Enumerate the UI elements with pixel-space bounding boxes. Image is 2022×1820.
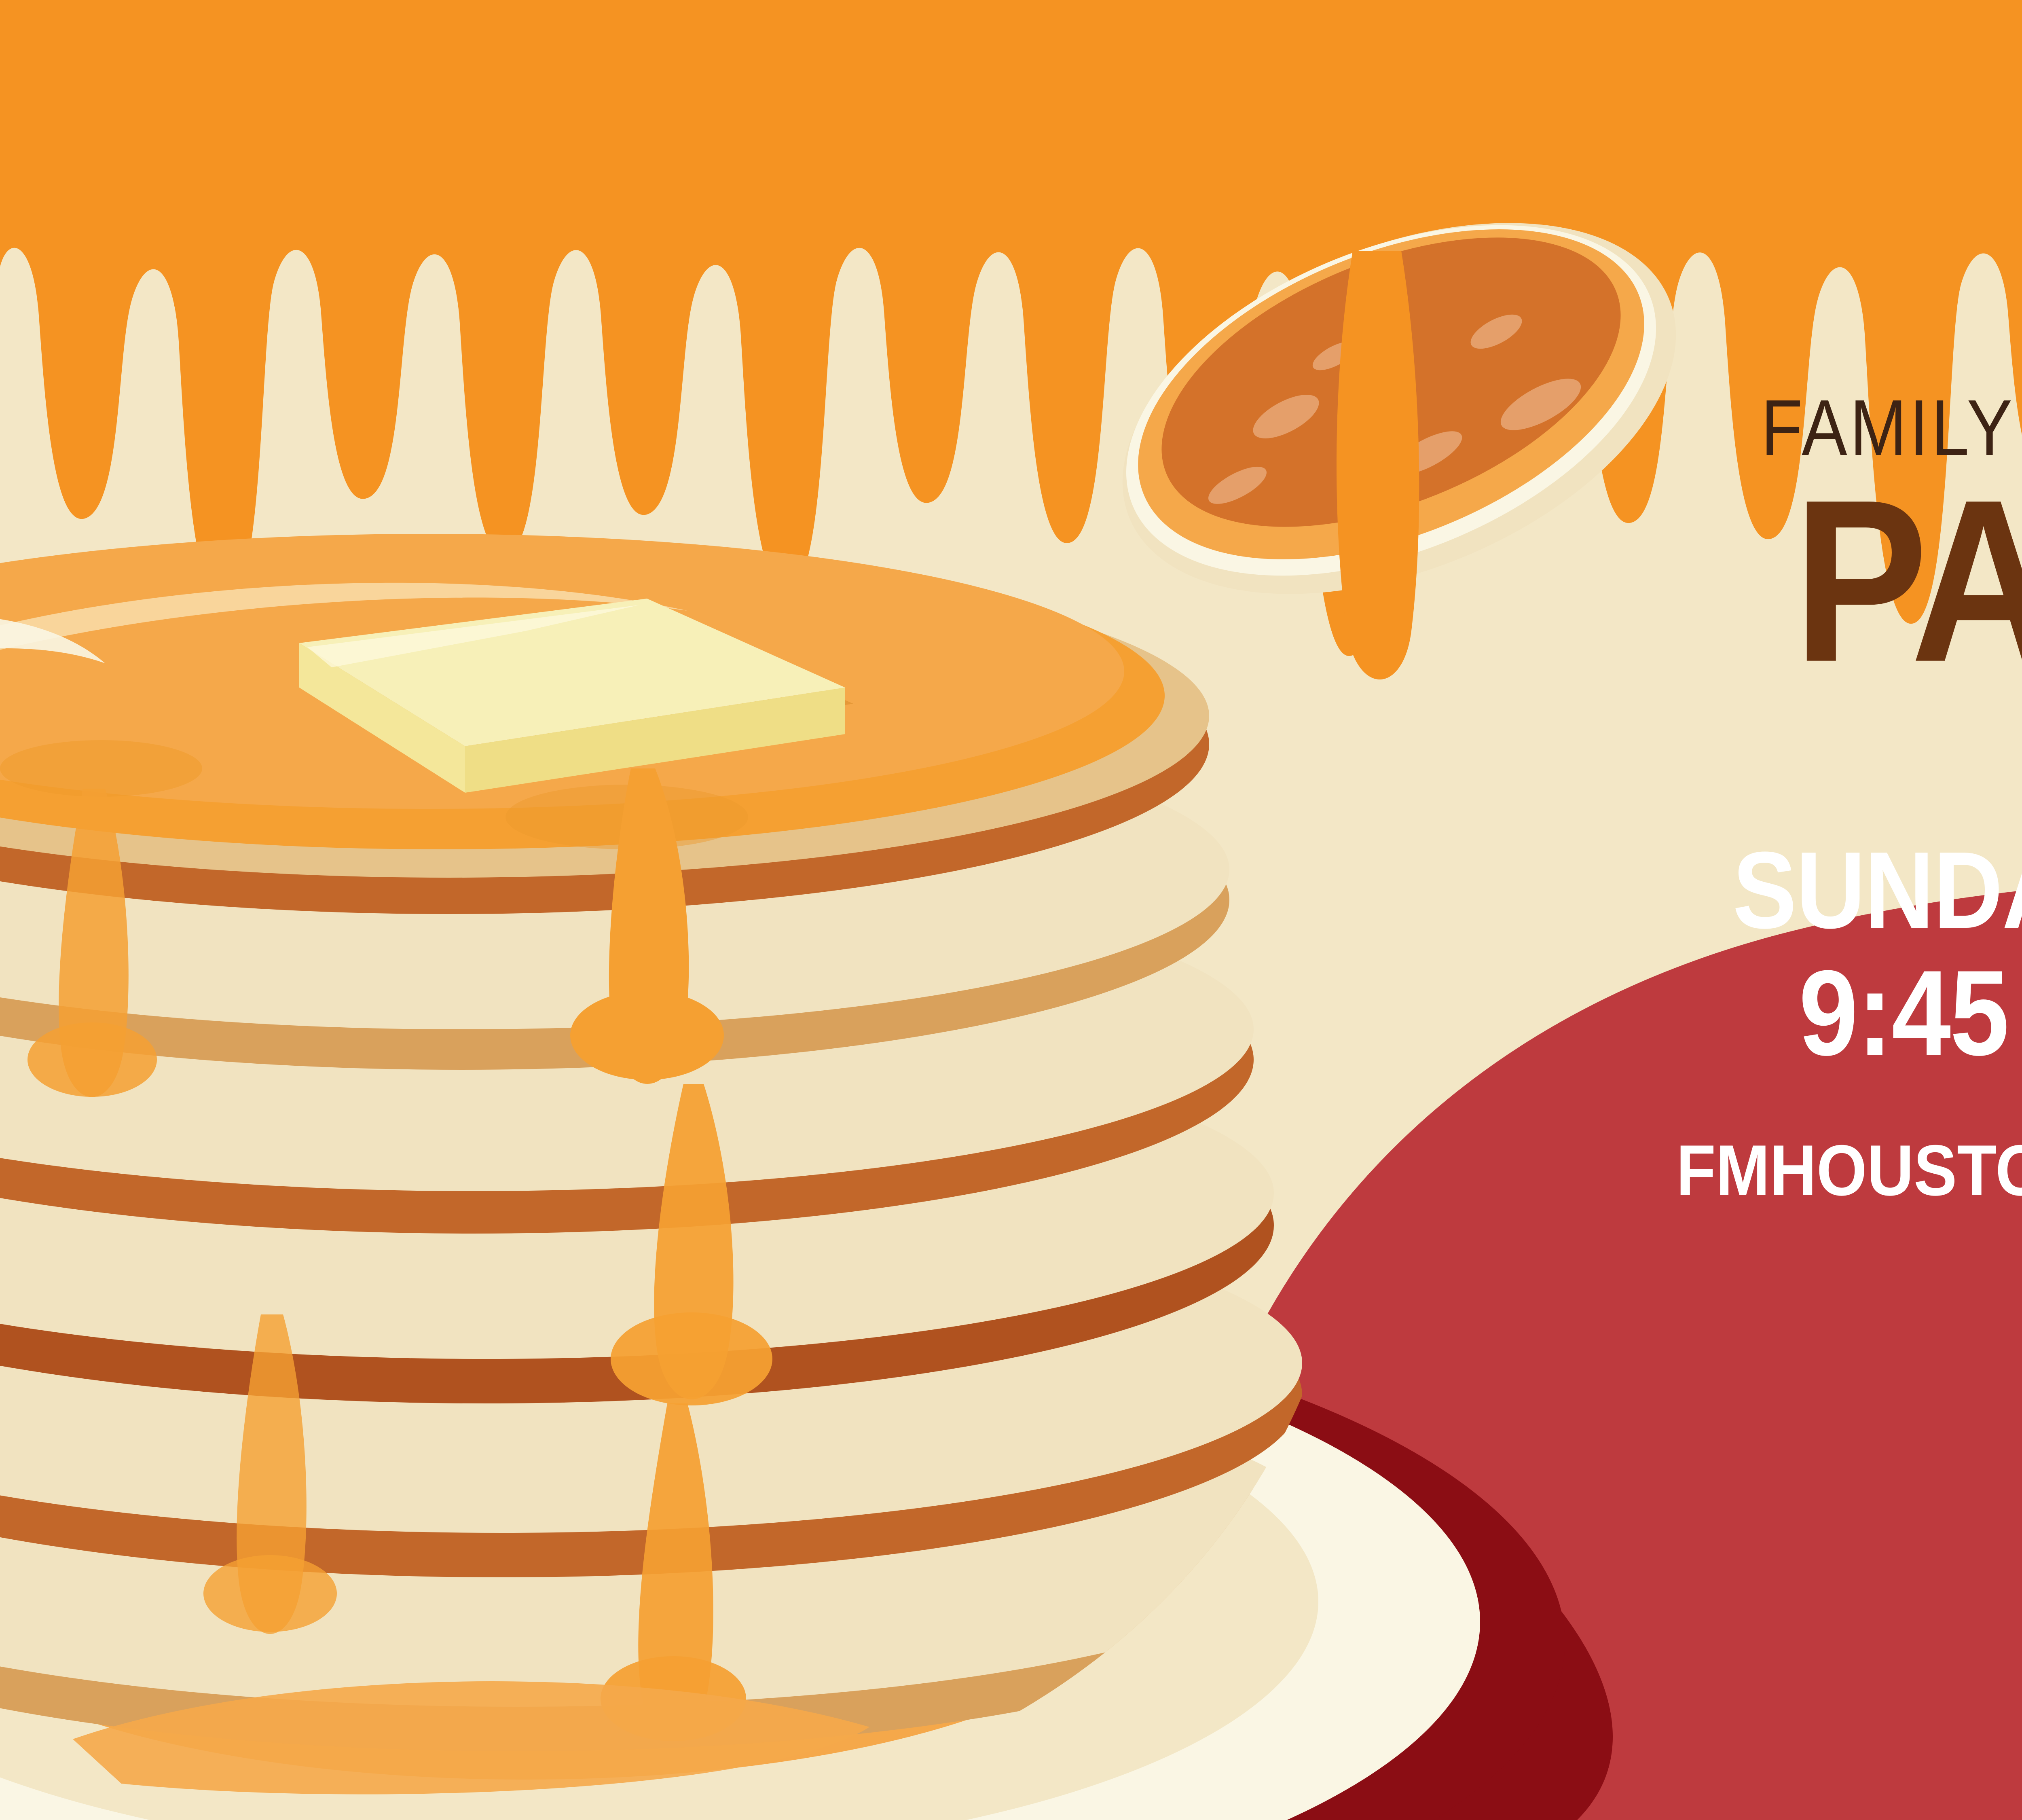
event-time: 9:45 AM (1799, 945, 2022, 1081)
pancake-stack (0, 534, 1326, 1751)
event-time-and-location: 9:45 AM|6TH FLOOR (1690, 951, 2022, 1075)
event-details-block: SUNDAY, FEBRUARY 15 9:45 AM|6TH FLOOR FM… (1610, 835, 2022, 1206)
poster-canvas: FAMILY MINISTRY PRESENTS PANCAKE Party S… (0, 0, 2022, 1820)
event-url[interactable]: FMHOUSTON.COM/UPCOMING-EVENTS (1676, 1134, 2022, 1206)
event-date: SUNDAY, FEBRUARY 15 (1690, 835, 2022, 946)
headline-group: PANCAKE Party (1610, 475, 2022, 701)
headline-text-block: FAMILY MINISTRY PRESENTS PANCAKE Party S… (1610, 388, 2022, 1206)
page-title: PANCAKE (1636, 475, 2022, 688)
